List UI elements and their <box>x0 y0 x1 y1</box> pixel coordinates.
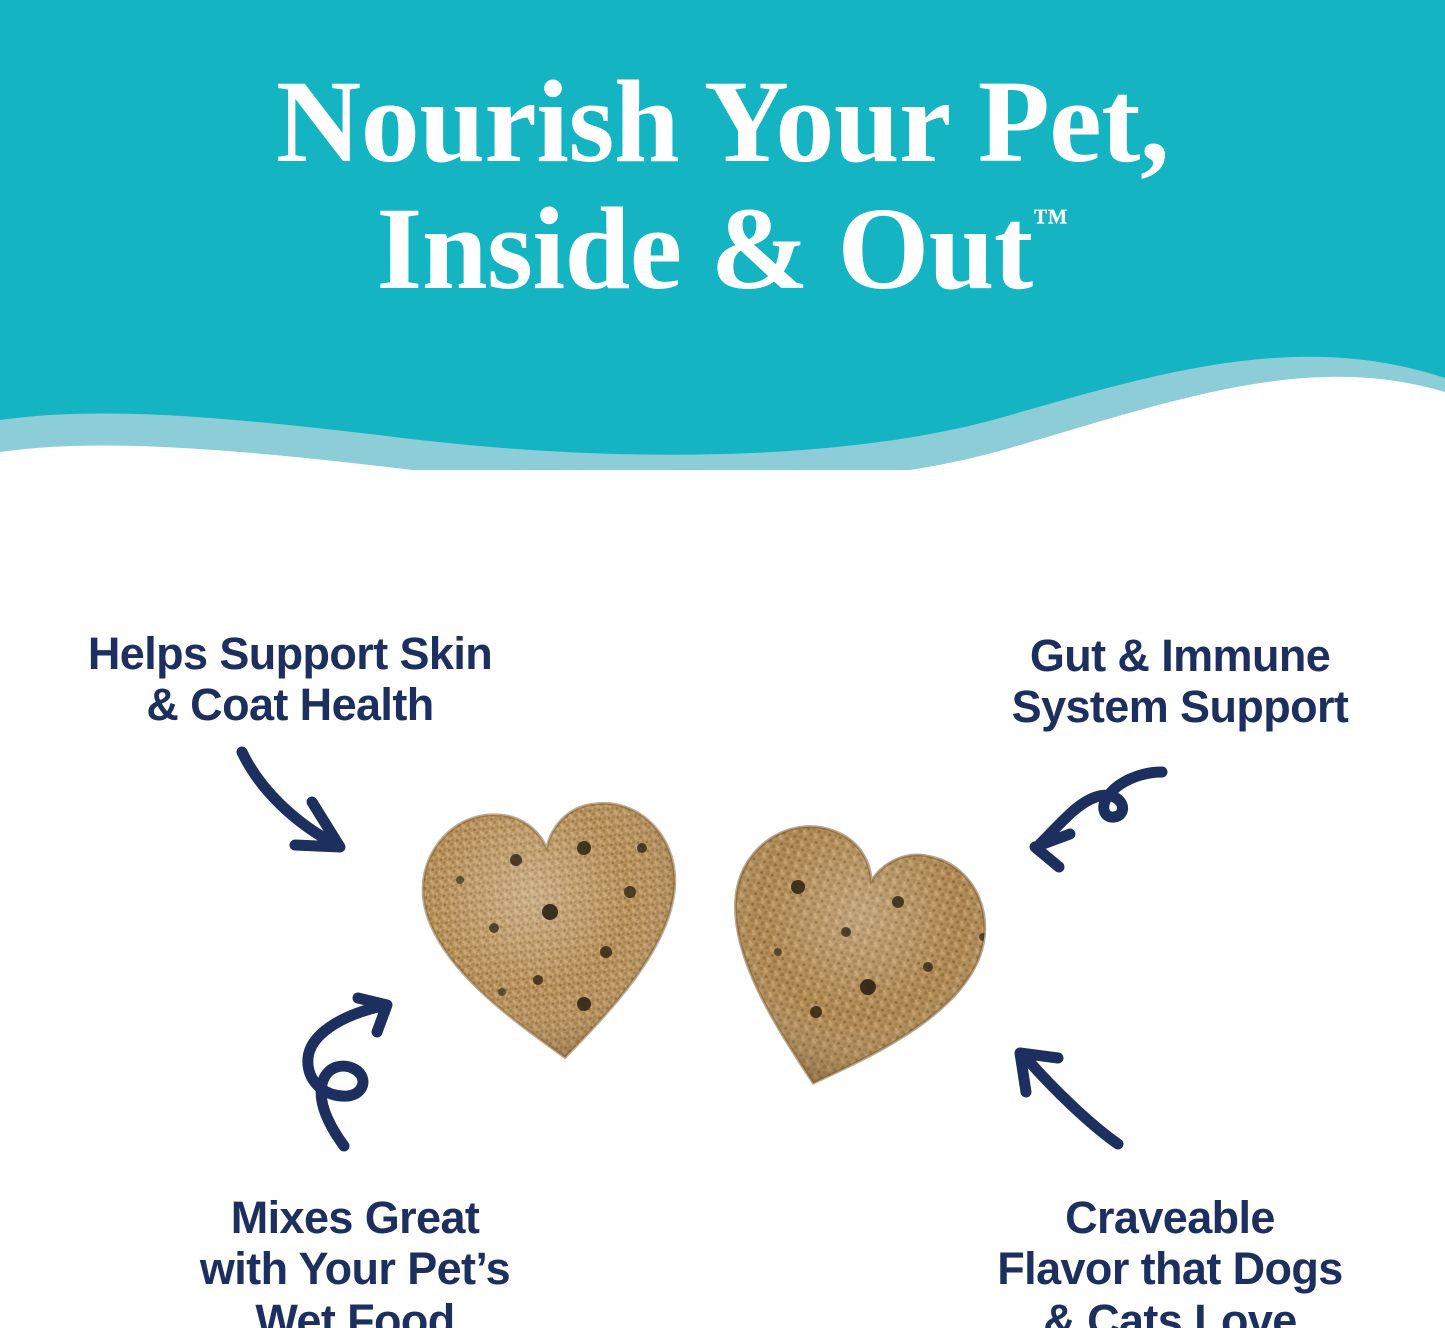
page-title-line-2-text: Inside & Out <box>376 183 1032 314</box>
feature-label-skin-coat: Helps Support Skin & Coat Health <box>30 628 550 731</box>
heart-treat-left <box>417 797 690 1068</box>
heart-treat-right <box>691 808 1002 1118</box>
curved-arrow-down-right-icon <box>236 748 366 863</box>
page-title-line-2: Inside & Out™ <box>0 185 1445 312</box>
feature-mixes-line-1: Mixes Great <box>120 1192 590 1243</box>
feature-mixes-line-2: with Your Pet’s <box>120 1243 590 1294</box>
curved-arrow-up-left-icon <box>996 1036 1126 1151</box>
feature-mixes-line-3: Wet Food <box>120 1295 590 1328</box>
promo-infographic: Nourish Your Pet, Inside & Out™ Helps Su… <box>0 0 1445 1328</box>
trademark-symbol: ™ <box>1033 201 1069 241</box>
feature-label-mixes-wet-food: Mixes Great with Your Pet’s Wet Food <box>120 1192 590 1328</box>
curly-loop-arrow-up-right-icon <box>286 996 411 1151</box>
feature-flavor-line-2: Flavor that Dogs <box>905 1243 1435 1294</box>
feature-gut-immune-line-2: System Support <box>930 681 1430 732</box>
page-title-line-1: Nourish Your Pet, <box>0 58 1445 185</box>
feature-label-gut-immune: Gut & Immune System Support <box>930 630 1430 733</box>
feature-label-craveable-flavor: Craveable Flavor that Dogs & Cats Love <box>905 1192 1435 1328</box>
page-title: Nourish Your Pet, Inside & Out™ <box>0 58 1445 313</box>
product-image-heart-treats <box>398 752 1048 1172</box>
feature-skin-coat-line-1: Helps Support Skin <box>30 628 550 679</box>
header-banner: Nourish Your Pet, Inside & Out™ <box>0 0 1445 470</box>
feature-gut-immune-line-1: Gut & Immune <box>930 630 1430 681</box>
feature-flavor-line-3: & Cats Love <box>905 1295 1435 1328</box>
feature-skin-coat-line-2: & Coat Health <box>30 679 550 730</box>
feature-flavor-line-1: Craveable <box>905 1192 1435 1243</box>
